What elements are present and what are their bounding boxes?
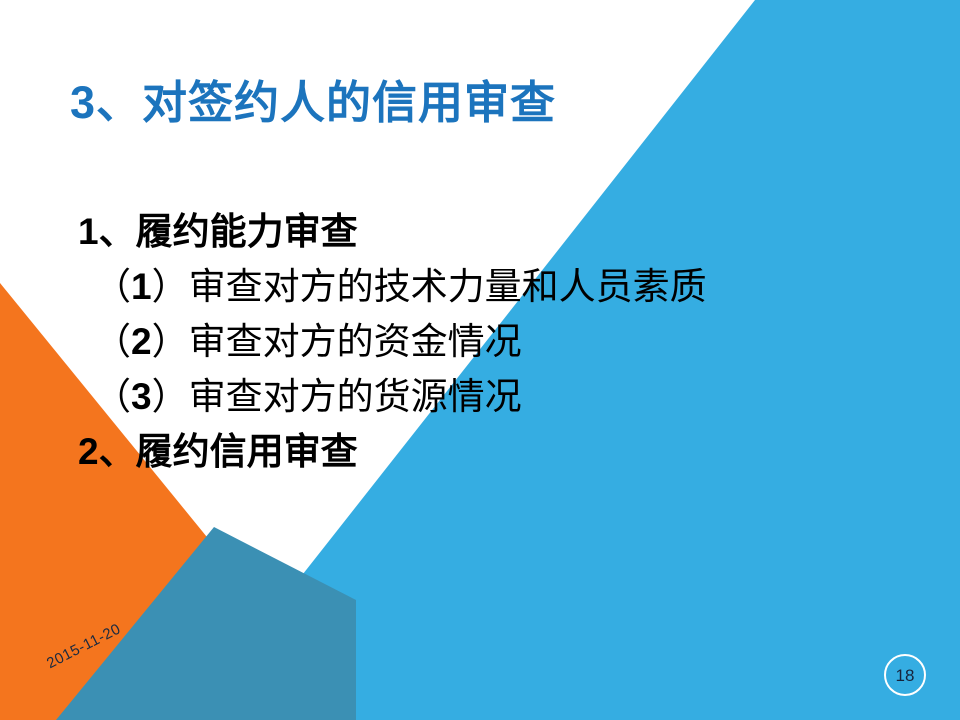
body-line: （2）审查对方的资金情况 [78, 315, 878, 370]
page-title: 3、对签约人的信用审查 [70, 78, 790, 128]
slide-canvas: 3、对签约人的信用审查 1、履约能力审查 （1）审查对方的技术力量和人员素质 （… [0, 0, 960, 720]
body-line: 2、履约信用审查 [78, 425, 878, 480]
body-line: （3）审查对方的货源情况 [78, 370, 878, 425]
page-number-badge: 18 [884, 654, 926, 696]
content-body: 1、履约能力审查 （1）审查对方的技术力量和人员素质 （2）审查对方的资金情况 … [78, 205, 878, 480]
body-line: （1）审查对方的技术力量和人员素质 [78, 260, 878, 315]
body-line: 1、履约能力审查 [78, 205, 878, 260]
page-number-label: 18 [896, 667, 915, 684]
